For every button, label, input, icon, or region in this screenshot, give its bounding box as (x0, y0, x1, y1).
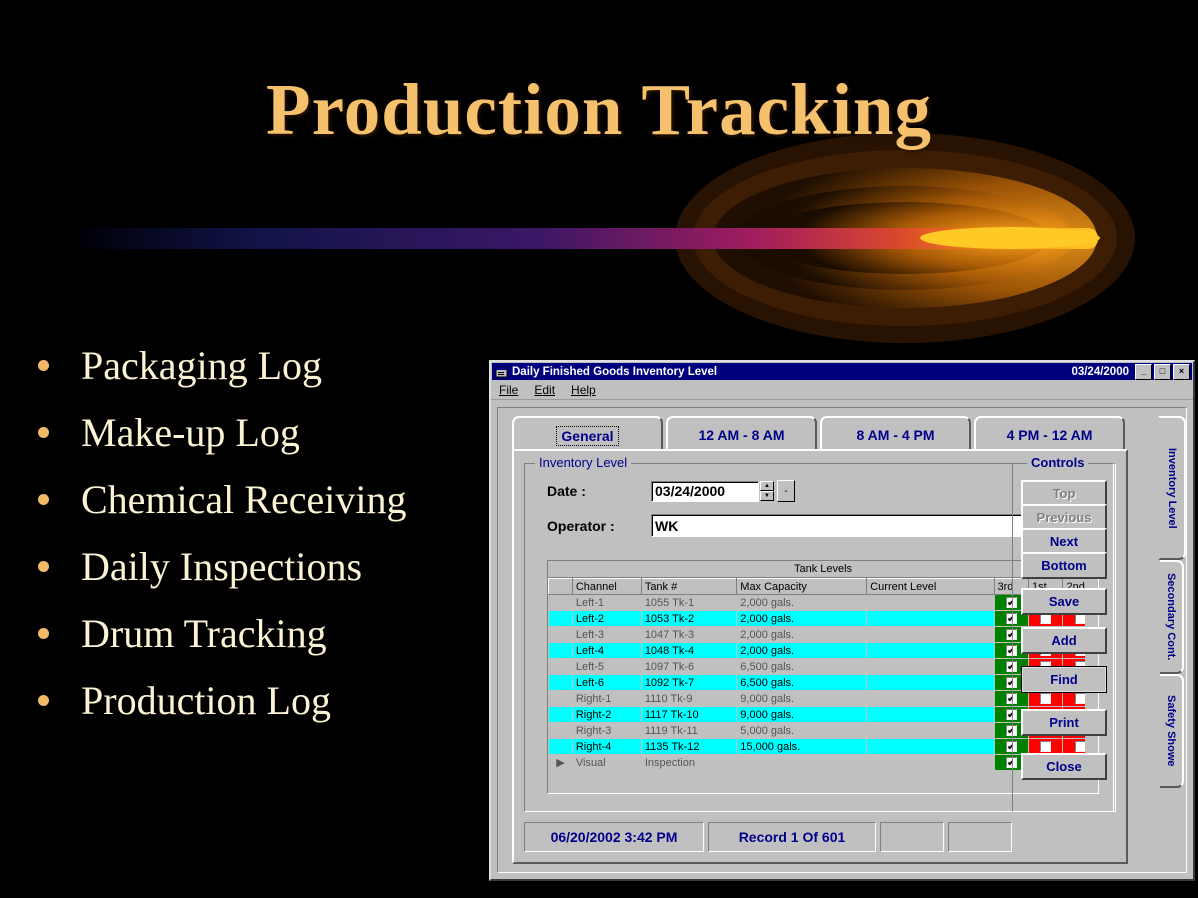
cell-tank[interactable]: 1097 Tk-6 (641, 659, 736, 675)
cell-max-capacity[interactable]: 2,000 gals. (737, 595, 867, 611)
col-tank[interactable]: Tank # (641, 579, 736, 595)
cell-tank[interactable]: 1119 Tk-11 (641, 723, 736, 739)
menu-item-help[interactable]: Help (571, 383, 596, 397)
row-selector[interactable] (549, 659, 573, 675)
bottom-button[interactable]: Bottom (1021, 552, 1107, 579)
menu-edit-label: Edit (534, 383, 555, 397)
maximize-button[interactable]: □ (1154, 364, 1171, 380)
row-selector[interactable] (549, 595, 573, 611)
cell-channel[interactable]: Left-6 (572, 675, 641, 691)
bullet-label: Production Log (81, 681, 331, 721)
tab-strip: General 12 AM - 8 AM 8 AM - 4 PM 4 PM - … (512, 416, 1128, 451)
cell-current-level[interactable] (867, 659, 994, 675)
cell-current-level[interactable] (867, 627, 994, 643)
cell-max-capacity[interactable]: 2,000 gals. (737, 643, 867, 659)
cell-channel[interactable]: Right-1 (572, 691, 641, 707)
cell-current-level[interactable] (867, 755, 994, 771)
list-item: Chemical Receiving (22, 466, 492, 533)
side-tab-secondary-cont-label: Secondary Cont. (1165, 573, 1177, 660)
bullet-list: Packaging Log Make-up Log Chemical Recei… (22, 332, 492, 734)
cell-max-capacity[interactable] (737, 755, 867, 771)
cell-max-capacity[interactable]: 15,000 gals. (737, 739, 867, 755)
cell-current-level[interactable] (867, 643, 994, 659)
cell-channel[interactable]: Left-5 (572, 659, 641, 675)
menu-item-file[interactable]: File (499, 383, 518, 397)
cell-max-capacity[interactable]: 2,000 gals. (737, 627, 867, 643)
bullet-label: Chemical Receiving (81, 480, 406, 520)
cell-channel[interactable]: Left-4 (572, 643, 641, 659)
row-selector[interactable] (549, 627, 573, 643)
date-label: Date : (547, 483, 651, 499)
page-title: Production Tracking (0, 68, 1198, 152)
app-window-icon (495, 366, 508, 378)
tab-4pm-12am-label: 4 PM - 12 AM (1007, 427, 1093, 443)
col-current-level[interactable]: Current Level (867, 579, 994, 595)
side-tab-safety-shower-label: Safety Showe (1165, 695, 1177, 767)
tab-12am-8am[interactable]: 12 AM - 8 AM (666, 416, 817, 451)
cell-tank[interactable]: Inspection (641, 755, 736, 771)
date-input[interactable] (651, 481, 759, 502)
date-spinner-up[interactable]: ▲ (760, 481, 774, 491)
bullet-dot-icon (38, 494, 49, 505)
group-controls: Controls Top Previous Next Bottom Save A… (1012, 463, 1114, 812)
row-selector[interactable] (549, 643, 573, 659)
operator-label: Operator : (547, 518, 651, 534)
status-timestamp: 06/20/2002 3:42 PM (524, 822, 704, 852)
cell-current-level[interactable] (867, 675, 994, 691)
cell-max-capacity[interactable]: 5,000 gals. (737, 723, 867, 739)
cell-max-capacity[interactable]: 2,000 gals. (737, 611, 867, 627)
window-title: Daily Finished Goods Inventory Level (512, 366, 1071, 378)
tab-4pm-12am[interactable]: 4 PM - 12 AM (974, 416, 1125, 451)
cell-max-capacity[interactable]: 6,500 gals. (737, 659, 867, 675)
close-button-ctl[interactable]: Close (1021, 753, 1107, 780)
menu-help-label: Help (571, 383, 596, 397)
top-button[interactable]: Top (1021, 480, 1107, 507)
bullet-dot-icon (38, 695, 49, 706)
row-selector[interactable] (549, 739, 573, 755)
bullet-label: Make-up Log (81, 413, 300, 453)
application-window: Daily Finished Goods Inventory Level 03/… (489, 360, 1195, 881)
close-button[interactable]: × (1173, 364, 1190, 380)
cell-max-capacity[interactable]: 6,500 gals. (737, 675, 867, 691)
col-select[interactable] (549, 579, 573, 595)
side-tab-inventory-level[interactable]: Inventory Level (1158, 416, 1186, 560)
status-cell-3 (880, 822, 944, 852)
list-item: Production Log (22, 667, 492, 734)
cell-tank[interactable]: 1053 Tk-2 (641, 611, 736, 627)
save-button[interactable]: Save (1021, 588, 1107, 615)
col-channel[interactable]: Channel (572, 579, 641, 595)
find-button[interactable]: Find (1021, 666, 1107, 693)
row-selector[interactable] (549, 611, 573, 627)
cell-channel[interactable]: Right-2 (572, 707, 641, 723)
bullet-dot-icon (38, 561, 49, 572)
row-selector[interactable]: ▶ (549, 755, 573, 771)
cell-current-level[interactable] (867, 691, 994, 707)
window-client-area: General 12 AM - 8 AM 8 AM - 4 PM 4 PM - … (497, 407, 1187, 873)
minimize-button[interactable]: _ (1135, 364, 1152, 380)
side-tab-strip: Inventory Level Secondary Cont. Safety S… (1160, 416, 1182, 862)
tab-8am-4pm-label: 8 AM - 4 PM (856, 427, 934, 443)
cell-current-level[interactable] (867, 723, 994, 739)
tab-12am-8am-label: 12 AM - 8 AM (698, 427, 784, 443)
previous-button[interactable]: Previous (1021, 504, 1107, 531)
cell-tank[interactable]: 1055 Tk-1 (641, 595, 736, 611)
row-selector[interactable] (549, 707, 573, 723)
cell-channel[interactable]: Left-1 (572, 595, 641, 611)
row-selector[interactable] (549, 723, 573, 739)
date-dropdown-button[interactable]: - (777, 480, 795, 502)
status-record: Record 1 Of 601 (708, 822, 876, 852)
status-cell-4 (948, 822, 1012, 852)
date-spinner-down[interactable]: ▼ (760, 491, 774, 501)
cell-current-level[interactable] (867, 595, 994, 611)
next-button[interactable]: Next (1021, 528, 1107, 555)
cell-channel[interactable]: Right-4 (572, 739, 641, 755)
menu-item-edit[interactable]: Edit (534, 383, 555, 397)
cell-channel[interactable]: Left-2 (572, 611, 641, 627)
cell-tank[interactable]: 1047 Tk-3 (641, 627, 736, 643)
cell-channel[interactable]: Visual (572, 755, 641, 771)
cell-max-capacity[interactable]: 9,000 gals. (737, 707, 867, 723)
cell-tank[interactable]: 1092 Tk-7 (641, 675, 736, 691)
print-button[interactable]: Print (1021, 709, 1107, 736)
comet-decoration (0, 130, 1198, 345)
cell-current-level[interactable] (867, 611, 994, 627)
status-bar: 06/20/2002 3:42 PM Record 1 Of 601 (524, 822, 1116, 852)
bullet-dot-icon (38, 628, 49, 639)
cell-current-level[interactable] (867, 707, 994, 723)
cell-max-capacity[interactable]: 9,000 gals. (737, 691, 867, 707)
controls-legend: Controls (1027, 455, 1088, 470)
tab-panel-general: Inventory Level Date : ▲ ▼ - Operator : (512, 449, 1128, 864)
group-inventory-legend: Inventory Level (535, 455, 631, 470)
row-selector[interactable] (549, 675, 573, 691)
bullet-label: Drum Tracking (81, 614, 327, 654)
cell-channel[interactable]: Right-3 (572, 723, 641, 739)
menu-file-label: File (499, 383, 518, 397)
date-field-row: Date : ▲ ▼ - (547, 480, 795, 502)
menu-bar: File Edit Help (491, 381, 1193, 400)
cell-tank[interactable]: 1117 Tk-10 (641, 707, 736, 723)
side-tab-safety-shower[interactable]: Safety Showe (1160, 674, 1184, 788)
add-button[interactable]: Add (1021, 627, 1107, 654)
list-item: Packaging Log (22, 332, 492, 399)
side-tab-secondary-cont[interactable]: Secondary Cont. (1160, 560, 1184, 674)
col-max-capacity[interactable]: Max Capacity (737, 579, 867, 595)
bullet-dot-icon (38, 360, 49, 371)
side-tab-inventory-level-label: Inventory Level (1166, 448, 1178, 529)
title-bar[interactable]: Daily Finished Goods Inventory Level 03/… (492, 363, 1192, 380)
cell-tank[interactable]: 1135 Tk-12 (641, 739, 736, 755)
cell-tank[interactable]: 1110 Tk-9 (641, 691, 736, 707)
list-item: Drum Tracking (22, 600, 492, 667)
cell-current-level[interactable] (867, 739, 994, 755)
bullet-dot-icon (38, 427, 49, 438)
bullet-label: Packaging Log (81, 346, 322, 386)
tab-general-label: General (557, 427, 617, 445)
bullet-label: Daily Inspections (81, 547, 362, 587)
window-title-date: 03/24/2000 (1071, 366, 1129, 378)
row-selector[interactable] (549, 691, 573, 707)
list-item: Daily Inspections (22, 533, 492, 600)
tab-8am-4pm[interactable]: 8 AM - 4 PM (820, 416, 971, 451)
cell-tank[interactable]: 1048 Tk-4 (641, 643, 736, 659)
cell-channel[interactable]: Left-3 (572, 627, 641, 643)
list-item: Make-up Log (22, 399, 492, 466)
date-spinner[interactable]: ▲ ▼ (760, 481, 774, 501)
